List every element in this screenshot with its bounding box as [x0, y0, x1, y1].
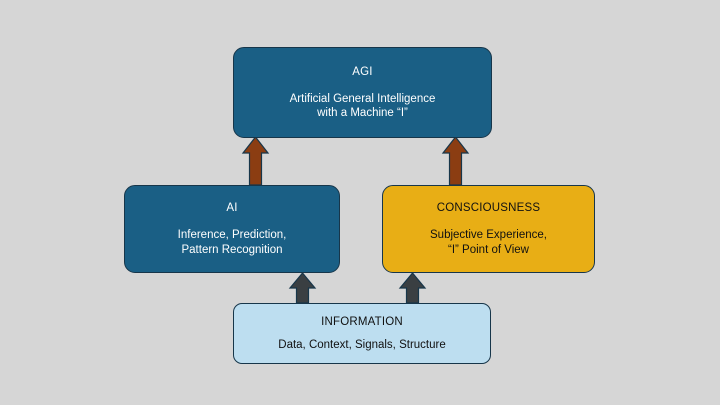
node-agi[interactable]: AGI Artificial General Intelligence with… — [233, 47, 492, 138]
node-consciousness-title: CONSCIOUSNESS — [437, 201, 541, 215]
node-agi-subtitle: Artificial General Intelligence with a M… — [290, 92, 436, 121]
node-ai[interactable]: AI Inference, Prediction, Pattern Recogn… — [124, 185, 340, 273]
concept-diagram: AGI Artificial General Intelligence with… — [0, 0, 720, 405]
arrow-information-to-consciousness-icon — [399, 272, 426, 304]
arrow-information-to-ai-icon — [289, 272, 316, 304]
node-ai-subtitle: Inference, Prediction, Pattern Recogniti… — [178, 228, 287, 257]
node-ai-title: AI — [226, 201, 237, 215]
node-information-title: INFORMATION — [321, 315, 403, 329]
node-information[interactable]: INFORMATION Data, Context, Signals, Stru… — [233, 303, 491, 364]
node-agi-title: AGI — [352, 65, 372, 79]
node-consciousness-subtitle: Subjective Experience, “I” Point of View — [430, 228, 547, 257]
arrow-ai-to-agi-icon — [242, 136, 269, 186]
arrow-consciousness-to-agi-icon — [442, 136, 469, 186]
node-information-subtitle: Data, Context, Signals, Structure — [278, 338, 445, 353]
node-consciousness[interactable]: CONSCIOUSNESS Subjective Experience, “I”… — [382, 185, 595, 273]
